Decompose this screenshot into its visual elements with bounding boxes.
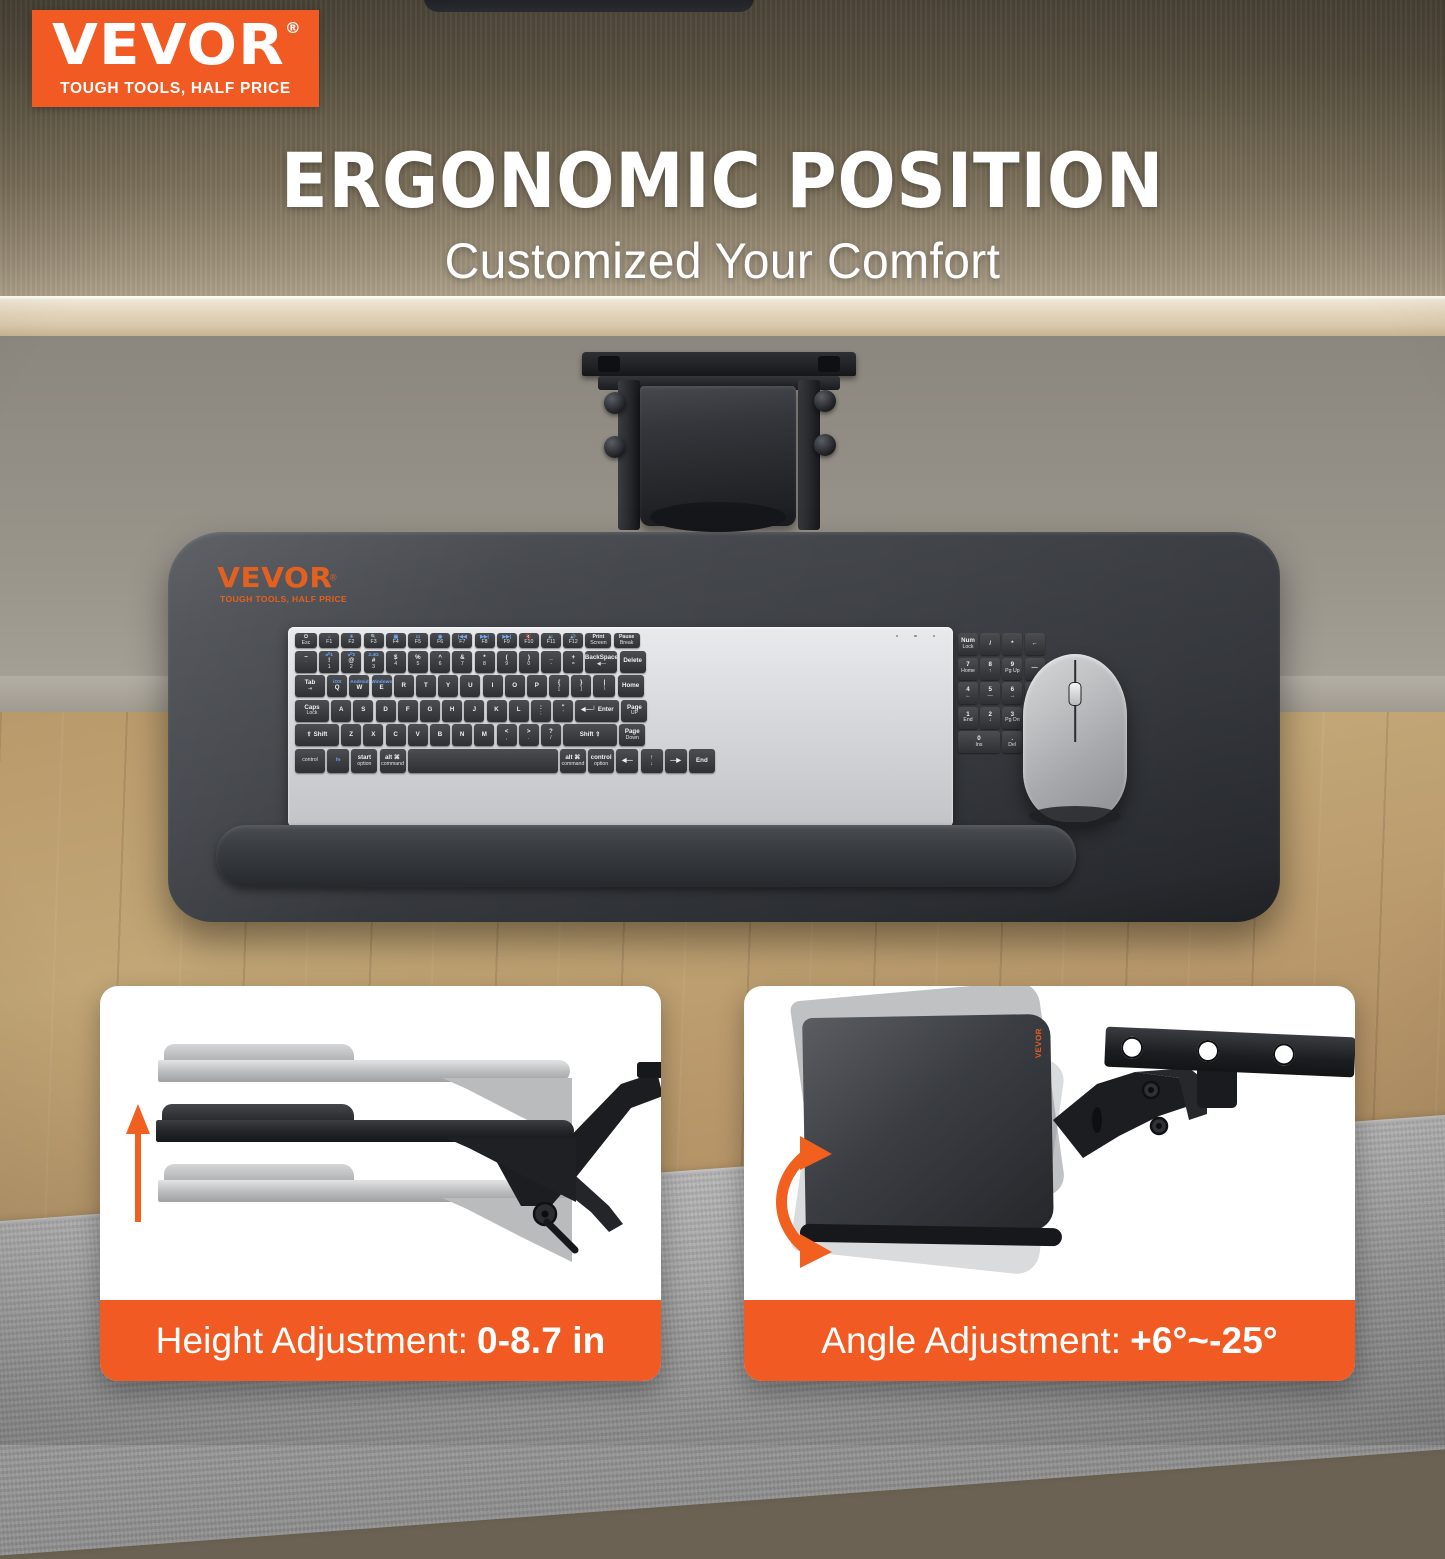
numpad-key[interactable]: 8↑ xyxy=(980,658,1000,680)
key-primary-legend: U xyxy=(468,683,472,690)
key-primary-legend: C xyxy=(393,732,397,739)
keyboard-key[interactable]: $4 xyxy=(386,651,406,673)
numpad-key[interactable]: .Del xyxy=(1002,731,1022,753)
monitor-stand-foot xyxy=(424,0,754,12)
keyboard-key[interactable]: ☍1!1 xyxy=(319,651,339,673)
key-sub-legend: Pg Up xyxy=(1005,669,1019,675)
key-primary-legend: Y xyxy=(446,683,450,690)
keyboard-key[interactable]: End xyxy=(689,749,715,773)
keyboard-key[interactable]: H xyxy=(442,700,462,722)
keyboard-key[interactable]: PauseBreak xyxy=(614,633,640,648)
mount-knob xyxy=(604,436,626,458)
vevor-tagline: TOUGH TOOLS, HALF PRICE xyxy=(60,80,291,98)
key-sub-legend: , xyxy=(506,736,507,742)
led-indicator xyxy=(914,635,916,637)
keyboard-key[interactable]: ☍2@2 xyxy=(341,651,361,673)
key-sub-legend: ↓ xyxy=(650,762,653,768)
key-sub-legend: = xyxy=(572,662,575,668)
keyboard-key[interactable]: 🔍F3 xyxy=(364,633,384,648)
key-primary-legend: Shift ⇧ xyxy=(580,732,601,739)
angle-adjustment-caption: Angle Adjustment: +6°~-25° xyxy=(744,1300,1355,1381)
numpad-key[interactable]: 3Pg Dn xyxy=(1002,707,1022,729)
key-primary-legend: ◀—┘ Enter xyxy=(581,707,614,714)
key-sub-legend: - xyxy=(550,662,552,668)
keyboard-key[interactable]: control xyxy=(295,749,325,773)
tray-vevor-logo: VEVOR® TOUGH TOOLS, HALF PRICE xyxy=(220,564,347,604)
key-sub-legend: command xyxy=(562,762,585,768)
key-primary-legend: Q xyxy=(335,685,340,692)
keyboard-key[interactable]: }] xyxy=(571,675,591,697)
keyboard-key[interactable]: X xyxy=(363,724,383,746)
key-sub-legend: F4 xyxy=(393,640,399,646)
keyboard-key[interactable]: R xyxy=(394,675,414,697)
key-sub-legend: F10 xyxy=(524,640,533,646)
key-sub-legend: F2 xyxy=(348,640,354,646)
bracket-hole xyxy=(1272,1043,1295,1066)
keyboard-key[interactable]: T xyxy=(416,675,436,697)
keyboard-shift-row: ⇧ ShiftZXCVBNM<,>.?/Shift ⇧PageDown xyxy=(295,724,946,746)
keyboard-key[interactable]: |\ xyxy=(593,675,615,697)
numpad-key[interactable]: 7Home xyxy=(958,658,978,680)
bracket-hole xyxy=(1121,1036,1144,1059)
keyboard-key[interactable]: ~` xyxy=(295,651,317,673)
keyboard-key[interactable]: C xyxy=(386,724,406,746)
numpad-key[interactable]: 6→ xyxy=(1002,682,1022,704)
keyboard-number-row: ~`☍1!1☍2@22.4G#3$4%5^6&7*8(9)0_-+=BackSp… xyxy=(295,651,946,673)
keyboard-key[interactable]: AndroidW xyxy=(349,675,369,697)
key-sub-legend: → xyxy=(1010,694,1015,700)
key-primary-legend: F xyxy=(406,707,410,714)
key-sub-legend: command xyxy=(381,762,404,768)
key-sub-legend: F12 xyxy=(569,640,578,646)
key-primary-legend: P xyxy=(535,683,539,690)
keyboard-key[interactable]: >. xyxy=(519,724,539,746)
key-primary-legend: M xyxy=(482,732,487,739)
keyboard-key[interactable]: *8 xyxy=(475,651,495,673)
keyboard-key[interactable]: D xyxy=(376,700,396,722)
keyboard-key[interactable]: ◀—┘ Enter xyxy=(575,700,619,722)
mouse-base xyxy=(1029,806,1121,826)
numpad-key[interactable]: 1End xyxy=(958,707,978,729)
keyboard-key[interactable]: V xyxy=(408,724,428,746)
key-primary-legend: End xyxy=(696,758,708,765)
numpad-key[interactable]: 9Pg Up xyxy=(1002,658,1022,680)
angle-caption-label: Angle Adjustment: xyxy=(821,1320,1121,1362)
key-primary-legend: * xyxy=(1011,641,1013,648)
key-sub-legend: Home xyxy=(961,669,975,675)
key-sub-legend: F6 xyxy=(437,640,443,646)
key-sub-legend: — xyxy=(988,694,993,700)
key-primary-legend: A xyxy=(339,707,343,714)
key-sub-legend: End xyxy=(963,718,972,724)
key-sub-legend: 8 xyxy=(483,662,486,668)
keyboard-key[interactable]: 🔉F11 xyxy=(541,633,561,648)
key-sub-legend: ] xyxy=(581,687,582,693)
keyboard-key[interactable]: (9 xyxy=(497,651,517,673)
keyboard-key[interactable]: —▶ xyxy=(665,749,687,773)
key-primary-legend: B xyxy=(438,732,442,739)
height-adjustment-figure xyxy=(100,986,661,1300)
keyboard-key[interactable]: alt ⌘command xyxy=(380,749,406,773)
key-primary-legend: Delete xyxy=(623,658,642,665)
keyboard-key[interactable]: alt ⌘command xyxy=(560,749,586,773)
key-primary-legend: D xyxy=(383,707,387,714)
key-primary-legend: ⇧ Shift xyxy=(307,732,328,739)
keyboard-key[interactable]: I xyxy=(483,675,503,697)
keyboard-key[interactable]: S xyxy=(353,700,373,722)
key-sub-legend: UP xyxy=(631,711,638,717)
mount-knob xyxy=(814,390,836,412)
keyboard-key[interactable]: PageDown xyxy=(619,724,645,746)
keyboard-key[interactable]: F xyxy=(398,700,418,722)
key-sub-legend: ' xyxy=(563,711,564,717)
keyboard-key[interactable]: += xyxy=(563,651,583,673)
led-indicator xyxy=(933,635,935,637)
angle-caption-value: +6°~-25° xyxy=(1130,1320,1278,1362)
keyboard-key[interactable]: <, xyxy=(497,724,517,746)
key-primary-legend: N xyxy=(460,732,464,739)
height-caption-value: 0-8.7 in xyxy=(477,1320,605,1362)
height-adjustment-caption: Height Adjustment: 0-8.7 in xyxy=(100,1300,661,1381)
key-primary-legend: —▶ xyxy=(670,758,681,765)
key-sub-legend: Lock xyxy=(307,711,318,717)
numpad-row: NumLock/*← xyxy=(958,633,1088,655)
key-sub-legend: Down xyxy=(626,736,639,742)
led-indicator xyxy=(896,635,898,637)
keyboard-key[interactable]: )0 xyxy=(519,651,539,673)
curved-double-arrow-icon xyxy=(762,1134,848,1270)
key-sub-legend: F5 xyxy=(415,640,421,646)
height-caption-label: Height Adjustment: xyxy=(156,1320,468,1362)
mount-rail xyxy=(582,352,856,376)
key-sub-legend: ; xyxy=(540,711,541,717)
key-sub-legend: option xyxy=(594,762,608,768)
keyboard-key[interactable]: ?/ xyxy=(541,724,561,746)
key-primary-legend: V xyxy=(416,732,420,739)
keyboard-key[interactable]: P xyxy=(527,675,547,697)
key-primary-legend: / xyxy=(989,641,991,648)
mount-knob xyxy=(814,434,836,456)
key-sub-legend: F8 xyxy=(481,640,487,646)
keyboard-key[interactable]: PageUP xyxy=(621,700,647,722)
numpad-key[interactable]: 4← xyxy=(958,682,978,704)
up-arrow-icon xyxy=(126,1104,150,1222)
key-primary-legend: H xyxy=(450,707,454,714)
keyboard-led-indicators xyxy=(896,635,935,637)
numpad-key[interactable]: / xyxy=(980,633,1000,655)
wireless-mouse[interactable] xyxy=(1023,654,1127,822)
key-sub-legend: / xyxy=(550,736,551,742)
keyboard-key[interactable]: ⏻Esc xyxy=(295,633,317,648)
tray-logo-text: VEVOR xyxy=(217,564,332,592)
key-secondary-legend: fn xyxy=(336,758,341,763)
key-sub-legend: 7 xyxy=(461,662,464,668)
keyboard-key[interactable]: BackSpace◀— xyxy=(585,651,617,673)
under-desk-mount-assembly xyxy=(574,352,864,552)
keyboard-key[interactable]: %5 xyxy=(408,651,428,673)
key-sub-legend: F3 xyxy=(371,640,377,646)
key-sub-legend: 9 xyxy=(505,662,508,668)
angle-adjustment-figure: VEVOR xyxy=(744,986,1355,1300)
bracket-hole xyxy=(1197,1040,1220,1063)
keyboard-key[interactable]: |◀◀F7 xyxy=(452,633,472,648)
keyboard-caps-row: CapsLockASDFGHJKL:;"'◀—┘ EnterPageUP xyxy=(295,700,946,722)
keyboard-key[interactable]: Tab⇥ xyxy=(295,675,325,697)
key-sub-legend: Pg Dn xyxy=(1005,718,1019,724)
key-sub-legend: . xyxy=(528,736,529,742)
key-sub-legend: option xyxy=(357,762,371,768)
keyboard-key[interactable]: iOSQ xyxy=(327,675,347,697)
key-primary-legend: O xyxy=(512,683,517,690)
numpad-key[interactable]: 5— xyxy=(980,682,1000,704)
keyboard-key[interactable]: Z xyxy=(341,724,361,746)
keyboard-key[interactable]: O xyxy=(505,675,525,697)
vevor-logo-badge: VEVOR® TOUGH TOOLS, HALF PRICE xyxy=(32,10,319,107)
keyboard-key[interactable]: U xyxy=(460,675,480,697)
keyboard-key[interactable]: L xyxy=(509,700,529,722)
mount-slide-plate xyxy=(640,386,796,526)
keyboard-key[interactable]: ▶▶|F9 xyxy=(497,633,517,648)
keyboard-key[interactable]: PrintScreen xyxy=(585,633,611,648)
keyboard-key[interactable]: K xyxy=(487,700,507,722)
keyboard-key[interactable]: J xyxy=(464,700,484,722)
keyboard-key[interactable]: WindowsE xyxy=(372,675,392,697)
keyboard-key[interactable]: ▣F4 xyxy=(386,633,406,648)
key-sub-legend: ◀— xyxy=(597,662,606,668)
key-sub-legend: F11 xyxy=(547,640,556,646)
key-sub-legend: \ xyxy=(604,687,605,693)
keyboard-key[interactable]: ◉F6 xyxy=(430,633,450,648)
key-primary-legend: X xyxy=(371,732,375,739)
key-sub-legend: 2 xyxy=(350,665,353,671)
key-sub-legend: Del xyxy=(1008,743,1016,749)
keyboard-key[interactable]: ▭F5 xyxy=(408,633,428,648)
key-sub-legend: F1 xyxy=(326,640,332,646)
key-primary-legend: T xyxy=(424,683,428,690)
keyboard-key-rows: ⏻Esc☼F1☀F2🔍F3▣F4▭F5◉F6|◀◀F7▶▶|F8▶▶|F9🔇F1… xyxy=(295,633,946,773)
keyboard-key[interactable]: Delete xyxy=(620,651,646,673)
key-sub-legend: control xyxy=(302,758,318,764)
key-sub-legend: ← xyxy=(965,694,970,700)
page-headline: ERGONOMIC POSITION xyxy=(72,136,1373,225)
numpad-key[interactable]: 2↓ xyxy=(980,707,1000,729)
numpad-key[interactable]: NumLock xyxy=(958,633,978,655)
numpad-key[interactable]: ← xyxy=(1025,633,1045,655)
key-primary-legend: J xyxy=(473,707,476,714)
keyboard-key[interactable]: 🔊F12 xyxy=(563,633,583,648)
keyboard-bottom-row: controlfnstartoptionalt ⌘commandalt ⌘com… xyxy=(295,749,946,773)
keyboard-key[interactable]: ⇧ Shift xyxy=(295,724,339,746)
key-sub-legend: ↑ xyxy=(989,669,992,675)
key-sub-legend: 0 xyxy=(527,662,530,668)
keyboard-key[interactable]: Shift ⇧ xyxy=(563,724,617,746)
tray-logo-tagline: TOUGH TOOLS, HALF PRICE xyxy=(220,595,347,604)
key-primary-legend: E xyxy=(379,685,383,692)
page-subheadline: Customized Your Comfort xyxy=(29,232,1416,290)
wrist-rest-pad xyxy=(216,825,1076,887)
keyboard-key[interactable]: ☀F2 xyxy=(341,633,361,648)
keyboard-key[interactable]: N xyxy=(452,724,472,746)
vevor-wordmark-text: VEVOR xyxy=(52,13,285,78)
key-sub-legend: Ins xyxy=(976,743,983,749)
key-sub-legend: 1 xyxy=(328,665,331,671)
keyboard-key[interactable]: G xyxy=(420,700,440,722)
key-sub-legend: 3 xyxy=(372,665,375,671)
key-sub-legend: 6 xyxy=(439,662,442,668)
keyboard-key[interactable]: :; xyxy=(531,700,551,722)
key-sub-legend: Break xyxy=(620,641,634,647)
keyboard-key[interactable]: fn xyxy=(327,749,349,773)
keyboard-key[interactable]: Home xyxy=(618,675,644,697)
mouse-scroll-wheel[interactable] xyxy=(1069,682,1082,706)
mount-knob xyxy=(604,392,626,414)
key-sub-legend: Esc xyxy=(302,641,311,647)
key-sub-legend: ` xyxy=(305,662,307,668)
keyboard-key[interactable]: startoption xyxy=(351,749,377,773)
key-sub-legend: F7 xyxy=(459,640,465,646)
keyboard-key[interactable]: Y xyxy=(438,675,458,697)
key-sub-legend: ↓ xyxy=(989,718,992,724)
registered-trademark-icon: ® xyxy=(285,21,302,35)
keyboard-key[interactable]: ↑↓ xyxy=(641,749,663,773)
keyboard-key[interactable]: 🔇F10 xyxy=(519,633,539,648)
keyboard-key[interactable]: M xyxy=(474,724,494,746)
keyboard-key[interactable]: {[ xyxy=(549,675,569,697)
keyboard-key[interactable]: &7 xyxy=(452,651,472,673)
key-primary-legend: I xyxy=(492,683,494,690)
keyboard-key[interactable]: ^6 xyxy=(430,651,450,673)
numpad-key[interactable]: 0Ins xyxy=(958,731,1000,753)
key-sub-legend: ⇥ xyxy=(308,687,312,693)
key-primary-legend: — xyxy=(1031,665,1037,672)
key-primary-legend: Home xyxy=(622,683,639,690)
key-sub-legend: [ xyxy=(558,687,559,693)
keyboard-key[interactable]: 2.4G#3 xyxy=(364,651,384,673)
key-primary-legend: ◀— xyxy=(622,758,633,765)
key-sub-legend: Lock xyxy=(963,645,974,651)
tray-position-active xyxy=(156,1104,574,1168)
angle-adjustment-panel: VEVOR Angle Adjustment: +6°~-25° xyxy=(744,986,1355,1381)
key-primary-legend: K xyxy=(494,707,498,714)
keyboard-key[interactable]: "' xyxy=(553,700,573,722)
keyboard-key[interactable]: ☼F1 xyxy=(319,633,339,648)
key-sub-legend: 4 xyxy=(394,662,397,668)
keyboard-tray: VEVOR® TOUGH TOOLS, HALF PRICE ⏻Esc☼F1☀F… xyxy=(168,532,1280,922)
key-primary-legend: Z xyxy=(349,732,353,739)
keyboard-key[interactable]: controloption xyxy=(588,749,614,773)
key-primary-legend: R xyxy=(402,683,406,690)
keyboard-key[interactable]: B xyxy=(430,724,450,746)
key-primary-legend: L xyxy=(517,707,521,714)
keyboard-key[interactable]: CapsLock xyxy=(295,700,329,722)
keyboard-key[interactable] xyxy=(408,749,558,773)
key-primary-legend: ← xyxy=(1031,641,1037,648)
desk-front-edge xyxy=(0,300,1445,336)
wireless-keyboard[interactable]: ⏻Esc☼F1☀F2🔍F3▣F4▭F5◉F6|◀◀F7▶▶|F8▶▶|F9🔇F1… xyxy=(288,627,953,827)
keyboard-tab-row: Tab⇥iOSQAndroidWWindowsERTYUIOP{[}]|\Hom… xyxy=(295,675,946,697)
keyboard-function-row: ⏻Esc☼F1☀F2🔍F3▣F4▭F5◉F6|◀◀F7▶▶|F8▶▶|F9🔇F1… xyxy=(295,633,946,648)
numpad-key[interactable]: * xyxy=(1002,633,1022,655)
key-sub-legend: Screen xyxy=(590,641,606,647)
key-sub-legend: 5 xyxy=(416,662,419,668)
keyboard-key[interactable]: _- xyxy=(541,651,561,673)
vevor-wordmark: VEVOR® xyxy=(52,19,300,72)
height-adjustment-panel: Height Adjustment: 0-8.7 in xyxy=(100,986,661,1381)
keyboard-key[interactable]: ◀— xyxy=(616,749,638,773)
keyboard-key[interactable]: ▶▶|F8 xyxy=(475,633,495,648)
keyboard-key[interactable]: A xyxy=(331,700,351,722)
key-primary-legend: W xyxy=(356,685,362,692)
key-primary-legend: S xyxy=(361,707,365,714)
key-primary-legend: G xyxy=(428,707,433,714)
key-sub-legend: F9 xyxy=(504,640,510,646)
